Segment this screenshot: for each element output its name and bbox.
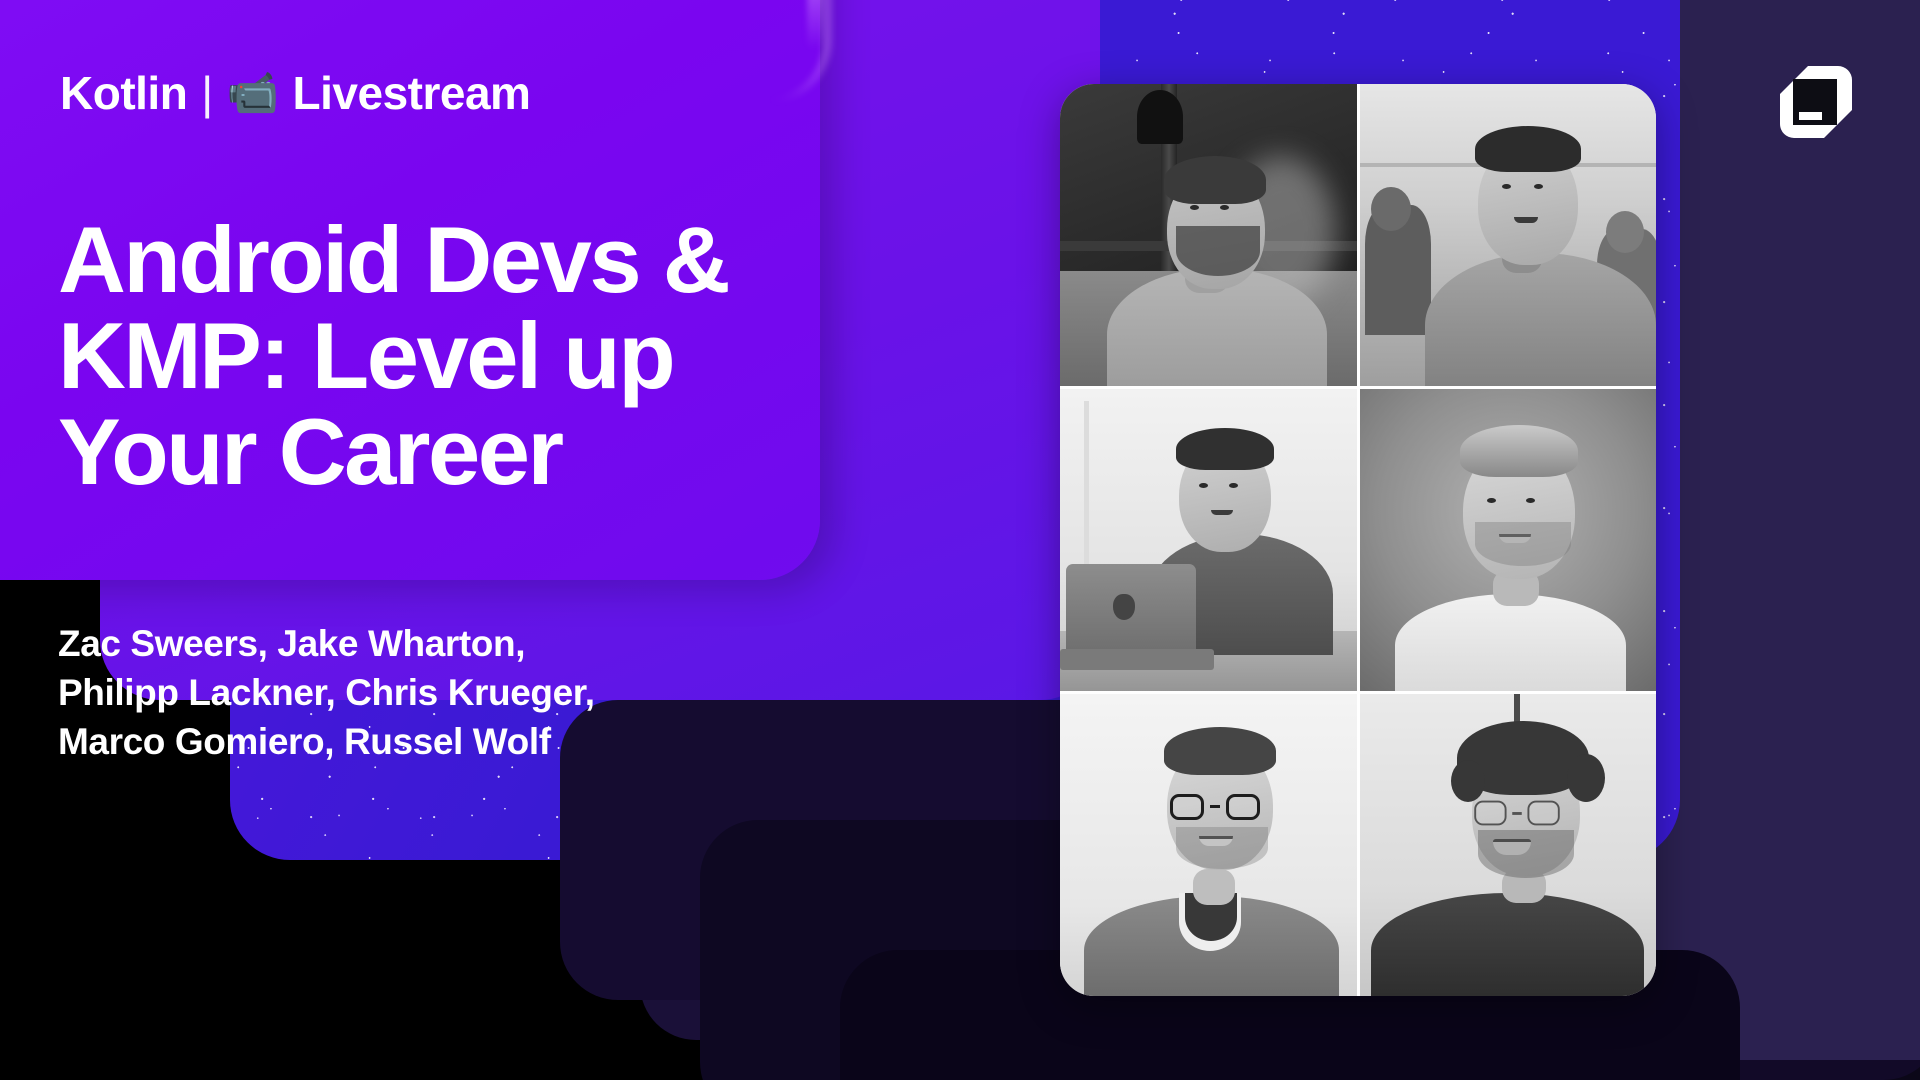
speaker-line-2: Philipp Lackner, Chris Krueger, bbox=[58, 669, 818, 718]
speaker-photo-3 bbox=[1060, 389, 1357, 691]
title-line-1: Android Devs & bbox=[58, 212, 878, 308]
speaker-photo-4 bbox=[1360, 389, 1657, 691]
speaker-photo-6 bbox=[1360, 694, 1657, 996]
event-type-label: Livestream bbox=[293, 66, 531, 120]
slide-canvas: Kotlin | 📹 Livestream Android Devs & KMP… bbox=[0, 0, 1920, 1080]
event-kicker: Kotlin | 📹 Livestream bbox=[60, 66, 530, 120]
video-camera-icon: 📹 bbox=[227, 72, 279, 114]
title-line-3: Your Career bbox=[58, 404, 878, 500]
speaker-line-3: Marco Gomiero, Russel Wolf bbox=[58, 718, 818, 767]
speaker-photo-5 bbox=[1060, 694, 1357, 996]
speaker-list: Zac Sweers, Jake Wharton, Philipp Lackne… bbox=[58, 620, 818, 766]
speaker-line-1: Zac Sweers, Jake Wharton, bbox=[58, 620, 818, 669]
page-title: Android Devs & KMP: Level up Your Career bbox=[58, 212, 878, 500]
speaker-photo-grid bbox=[1060, 84, 1656, 996]
title-line-2: KMP: Level up bbox=[58, 308, 878, 404]
brand-name: Kotlin bbox=[60, 66, 187, 120]
kicker-separator: | bbox=[201, 66, 212, 120]
speaker-photo-1 bbox=[1060, 84, 1357, 386]
speaker-photo-2 bbox=[1360, 84, 1657, 386]
kotlin-logo-icon bbox=[1772, 58, 1860, 146]
